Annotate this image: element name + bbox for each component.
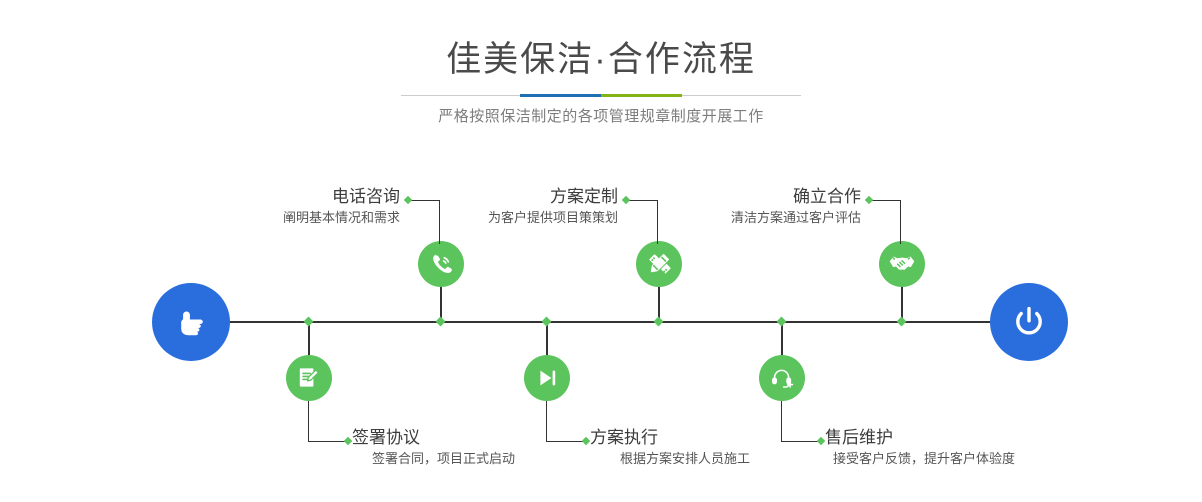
step-desc: 清洁方案通过客户评估 — [553, 208, 861, 228]
page-subtitle: 严格按照保洁制定的各项管理规章制度开展工作 — [0, 106, 1202, 128]
divider-green-segment — [601, 94, 682, 97]
step-node-contract — [286, 355, 332, 401]
pointing-hand-icon — [171, 302, 211, 342]
step-desc: 接受客户反馈，提升客户体验度 — [825, 449, 1175, 469]
connector-bottom-2 — [541, 401, 591, 445]
connector-bottom-3 — [776, 401, 826, 445]
connector-bottom-1 — [303, 401, 353, 445]
step-node-design — [636, 241, 682, 287]
step-title: 售后维护 — [825, 427, 1175, 449]
axis-marker-top-3 — [897, 317, 907, 327]
axis-marker-top-2 — [654, 317, 664, 327]
step-node-phone — [418, 241, 464, 287]
axis-marker-bottom-1 — [304, 317, 314, 327]
axis-marker-bottom-3 — [777, 317, 787, 327]
headset-plus-icon — [769, 365, 795, 391]
step-node-support — [759, 355, 805, 401]
title-divider — [401, 94, 801, 97]
phone-ring-icon — [427, 250, 455, 278]
document-pen-icon — [296, 365, 322, 391]
play-skip-icon — [534, 365, 560, 391]
process-flow-infographic: 佳美保洁·合作流程 严格按照保洁制定的各项管理规章制度开展工作 — [0, 0, 1202, 502]
page-title: 佳美保洁·合作流程 — [0, 38, 1202, 82]
start-endpoint — [152, 283, 230, 361]
end-endpoint — [990, 283, 1068, 361]
timeline-axis — [154, 321, 1050, 323]
connector-top-3 — [866, 196, 906, 244]
power-icon — [1007, 300, 1051, 344]
handshake-icon — [888, 250, 916, 278]
step-label-bottom-3: 售后维护 接受客户反馈，提升客户体验度 — [825, 427, 1175, 469]
step-label-top-3: 确立合作 清洁方案通过客户评估 — [553, 186, 861, 228]
axis-marker-bottom-2 — [542, 317, 552, 327]
pencil-ruler-icon — [645, 250, 673, 278]
step-title: 确立合作 — [553, 186, 861, 208]
divider-blue-segment — [520, 94, 601, 97]
step-node-execute — [524, 355, 570, 401]
step-node-handshake — [879, 241, 925, 287]
axis-marker-top-1 — [436, 317, 446, 327]
